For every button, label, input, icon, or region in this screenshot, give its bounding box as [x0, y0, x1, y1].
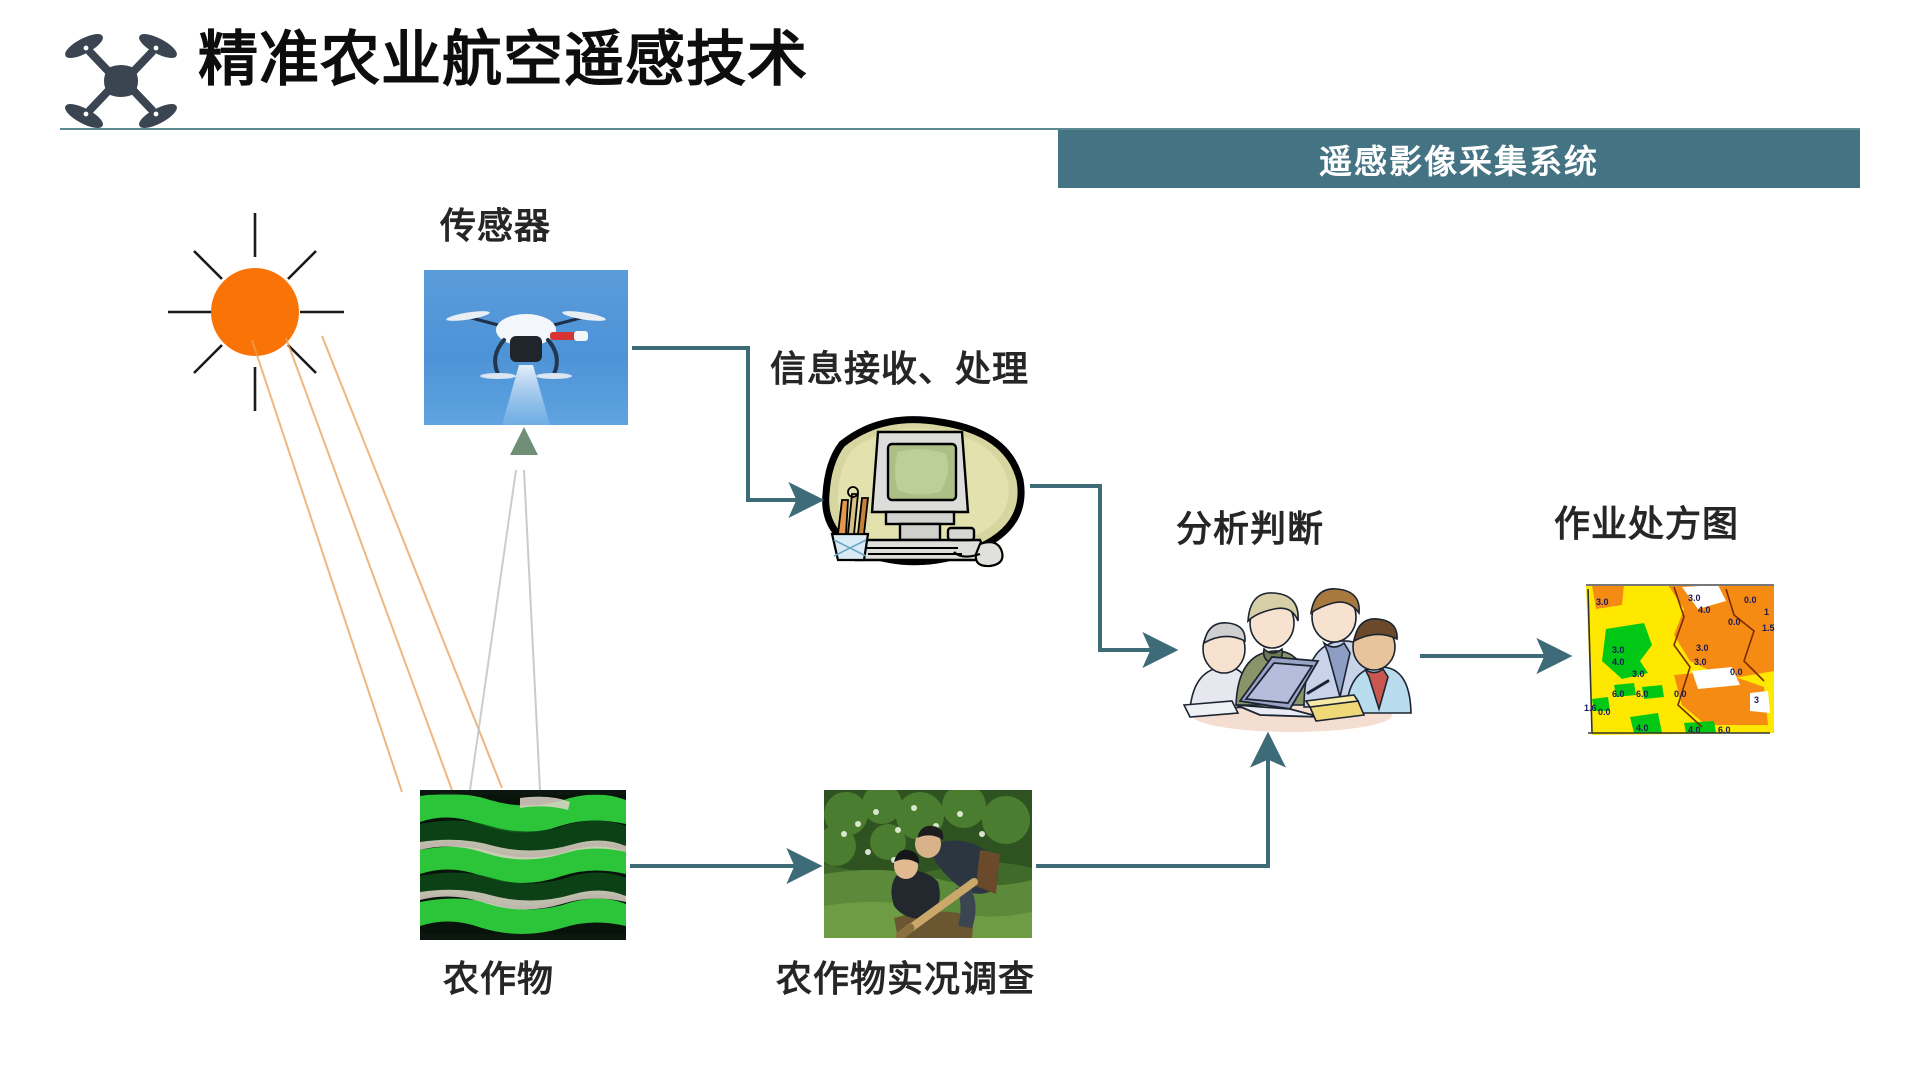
page-title: 精准农业航空遥感技术 [198, 28, 808, 93]
svg-text:4.0: 4.0 [1636, 723, 1649, 733]
svg-text:4.0: 4.0 [1612, 657, 1625, 667]
prescription-map-thumbnail: 3.03.0 4.00.0 0.01 1.5 3.04.0 3.0 3.03.0… [1578, 575, 1778, 745]
arrow-field-survey-to-analysis [1036, 738, 1268, 866]
svg-text:0.0: 0.0 [1730, 667, 1743, 677]
desktop-computer-clipart [812, 408, 1032, 580]
svg-text:0.0: 0.0 [1728, 617, 1741, 627]
label-field-survey: 农作物实况调查 [776, 950, 1035, 1002]
svg-text:1.6: 1.6 [1584, 703, 1597, 713]
svg-text:0.0: 0.0 [1598, 707, 1611, 717]
svg-text:3.0: 3.0 [1694, 657, 1707, 667]
svg-text:3.0: 3.0 [1632, 669, 1645, 679]
svg-text:3.0: 3.0 [1688, 593, 1701, 603]
section-banner-label: 遥感影像采集系统 [1058, 130, 1860, 188]
svg-text:0.0: 0.0 [1674, 689, 1687, 699]
slide-canvas: 精准农业航空遥感技术 遥感影像采集系统 [0, 0, 1920, 1080]
uav-drone-photo [424, 270, 628, 425]
svg-text:1.5: 1.5 [1762, 623, 1775, 633]
drone-quadcopter-icon [62, 26, 180, 136]
sun [150, 205, 390, 455]
svg-text:3.0: 3.0 [1612, 645, 1625, 655]
label-sensor: 传感器 [440, 197, 551, 249]
svg-text:6.0: 6.0 [1636, 689, 1649, 699]
team-meeting-clipart [1168, 575, 1413, 735]
svg-text:4.0: 4.0 [1698, 605, 1711, 615]
svg-text:3: 3 [1754, 695, 1759, 705]
orchard-field-survey-photo [824, 790, 1032, 938]
svg-text:3.0: 3.0 [1596, 597, 1609, 607]
arrow-processing-to-analysis [1030, 486, 1172, 650]
section-banner: 遥感影像采集系统 [1058, 130, 1860, 188]
aerial-crop-rows-photo [420, 790, 626, 940]
label-prescription: 作业处方图 [1554, 495, 1739, 547]
svg-text:3.0: 3.0 [1696, 643, 1709, 653]
svg-text:1: 1 [1764, 607, 1769, 617]
svg-text:6.0: 6.0 [1612, 689, 1625, 699]
svg-text:0.0: 0.0 [1744, 595, 1757, 605]
arrow-crops-to-sensor [510, 427, 538, 790]
label-analysis: 分析判断 [1176, 500, 1324, 552]
label-processing: 信息接收、处理 [770, 340, 1029, 392]
label-crops: 农作物 [443, 950, 554, 1002]
